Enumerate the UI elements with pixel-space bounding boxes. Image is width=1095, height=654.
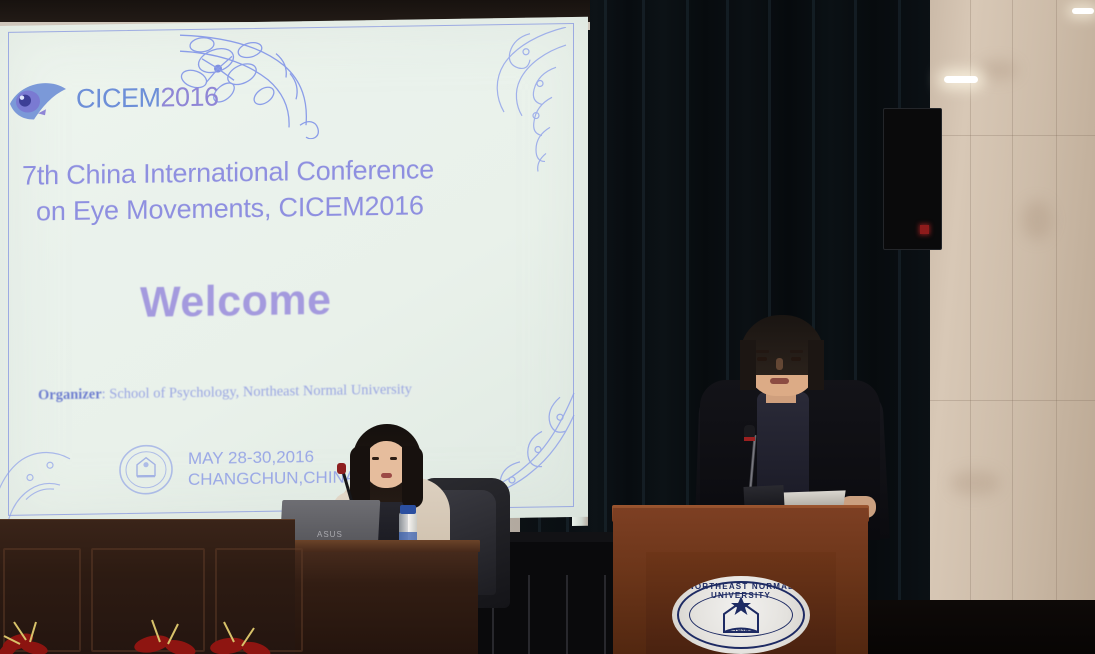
presenter-hair-right [808, 340, 824, 390]
speaker-led-indicator [920, 225, 929, 234]
presenter-hair-left [740, 340, 756, 390]
conference-photo-scene: CICEM2016 7th China International Confer… [0, 0, 1095, 654]
presenter-eye-right [791, 357, 801, 361]
podium-seal-year: 1946 [672, 628, 810, 635]
organizer-value: School of Psychology, Northeast Normal U… [109, 382, 412, 403]
date-location-block: MAY 28-30,2016 CHANGCHUN,CHINA [188, 445, 356, 490]
wall-speaker [883, 108, 942, 250]
cicem-logo-text: CICEM2016 [76, 81, 219, 114]
cicem-logo: CICEM2016 [8, 71, 219, 126]
presenter-brow-right [790, 350, 803, 353]
red-lily-arrangement-center [116, 600, 276, 654]
presenter-brow-left [756, 350, 769, 353]
seated-moderator-eye-left [372, 457, 379, 460]
organizer-line: Organizer: School of Psychology, Northea… [38, 382, 412, 405]
presenter-mouth [770, 378, 789, 384]
conference-title-line2: on Eye Movements, CICEM2016 [22, 186, 542, 231]
recessed-wall-light [944, 76, 978, 83]
presenter-eye-left [757, 357, 767, 361]
laptop-brand-label: ASUS [317, 530, 343, 539]
projection-screen: CICEM2016 7th China International Confer… [0, 17, 588, 526]
red-lily-arrangement-left [0, 596, 120, 654]
seated-moderator-hair-right [402, 446, 423, 508]
organizer-label: Organizer [38, 386, 102, 403]
slide-content: CICEM2016 7th China International Confer… [0, 17, 588, 526]
seated-moderator-hair-left [350, 446, 370, 508]
university-crest-icon: NORTHEAST NORMAL UNIVERSITY 1946 [672, 576, 810, 654]
welcome-heading: Welcome [140, 276, 332, 328]
conference-title: 7th China International Conference on Ey… [22, 149, 542, 230]
table-microphone [337, 463, 346, 474]
presenter-nose [776, 358, 783, 370]
seated-moderator-mouth [381, 473, 392, 478]
marble-wall [930, 0, 1095, 654]
podium-microphone-indicator [744, 437, 755, 441]
eye-logo-icon [8, 73, 72, 126]
seated-moderator-eye-right [390, 457, 397, 460]
slide-date: MAY 28-30,2016 [188, 445, 356, 469]
university-seal-icon [118, 443, 174, 496]
water-bottle-cap [400, 505, 416, 514]
slide-location: CHANGCHUN,CHINA [188, 467, 356, 491]
recessed-wall-light-upper [1072, 8, 1094, 14]
